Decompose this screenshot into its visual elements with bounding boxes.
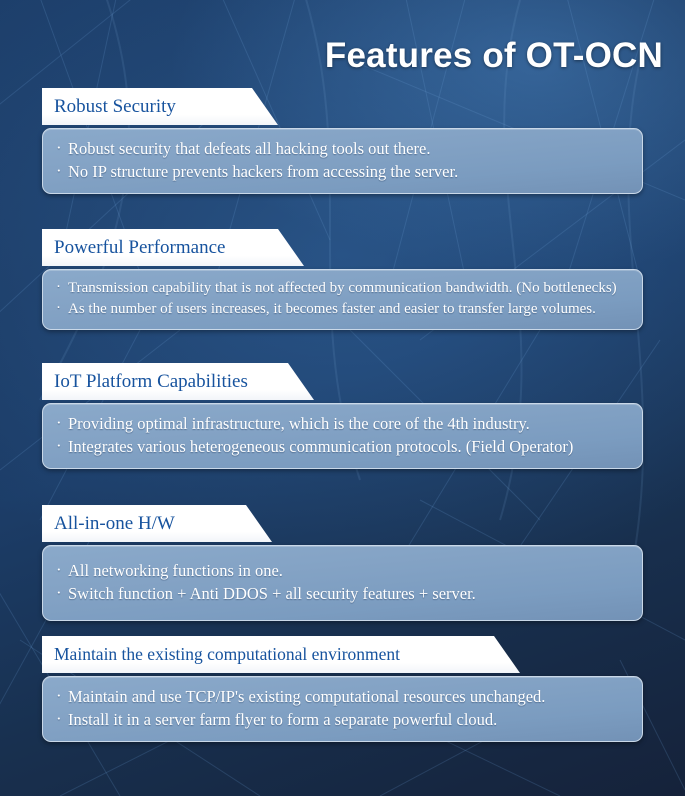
slide-canvas: Features of OT-OCN Robust Security Robus… — [0, 0, 685, 796]
list-item: Install it in a server farm flyer to for… — [55, 709, 628, 731]
slide-title-bar: Features of OT-OCN — [0, 30, 663, 82]
list-item: All networking functions in one. — [55, 560, 628, 582]
list-item: Providing optimal infrastructure, which … — [55, 413, 628, 435]
list-item: Switch function + Anti DDOS + all securi… — [55, 583, 628, 605]
list-item: Integrates various heterogeneous communi… — [55, 436, 628, 458]
list-item: No IP structure prevents hackers from ac… — [55, 161, 628, 183]
feature-bullet-list: Providing optimal infrastructure, which … — [55, 413, 628, 458]
feature-heading-label: Robust Security — [42, 97, 176, 116]
feature-bullet-list: Transmission capability that is not affe… — [55, 279, 628, 319]
feature-heading-banner: IoT Platform Capabilities — [42, 363, 314, 400]
feature-bullet-list: Robust security that defeats all hacking… — [55, 138, 628, 183]
feature-block-powerful-performance: Powerful Performance Transmission capabi… — [42, 229, 643, 330]
feature-block-maintain-existing-environment: Maintain the existing computational envi… — [42, 636, 643, 742]
feature-body-box: Providing optimal infrastructure, which … — [42, 403, 643, 469]
feature-heading-label: All-in-one H/W — [42, 514, 175, 533]
feature-heading-banner: All-in-one H/W — [42, 505, 272, 542]
feature-block-iot-platform-capabilities: IoT Platform Capabilities Providing opti… — [42, 363, 643, 469]
feature-heading-label: Maintain the existing computational envi… — [42, 646, 400, 664]
list-item: Maintain and use TCP/IP's existing compu… — [55, 686, 628, 708]
page-title: Features of OT-OCN — [325, 36, 663, 76]
feature-body-box: Maintain and use TCP/IP's existing compu… — [42, 676, 643, 742]
feature-heading-banner: Robust Security — [42, 88, 278, 125]
feature-heading-label: Powerful Performance — [42, 238, 225, 257]
list-item: As the number of users increases, it bec… — [55, 300, 628, 320]
feature-bullet-list: All networking functions in one. Switch … — [55, 560, 628, 605]
feature-heading-banner: Powerful Performance — [42, 229, 304, 266]
feature-bullet-list: Maintain and use TCP/IP's existing compu… — [55, 686, 628, 731]
feature-body-box: Robust security that defeats all hacking… — [42, 128, 643, 194]
list-item: Robust security that defeats all hacking… — [55, 138, 628, 160]
feature-body-box: Transmission capability that is not affe… — [42, 269, 643, 330]
feature-block-all-in-one-hw: All-in-one H/W All networking functions … — [42, 505, 643, 621]
feature-heading-banner: Maintain the existing computational envi… — [42, 636, 520, 673]
list-item: Transmission capability that is not affe… — [55, 279, 628, 299]
feature-block-robust-security: Robust Security Robust security that def… — [42, 88, 643, 194]
feature-heading-label: IoT Platform Capabilities — [42, 372, 248, 391]
feature-body-box: All networking functions in one. Switch … — [42, 545, 643, 621]
